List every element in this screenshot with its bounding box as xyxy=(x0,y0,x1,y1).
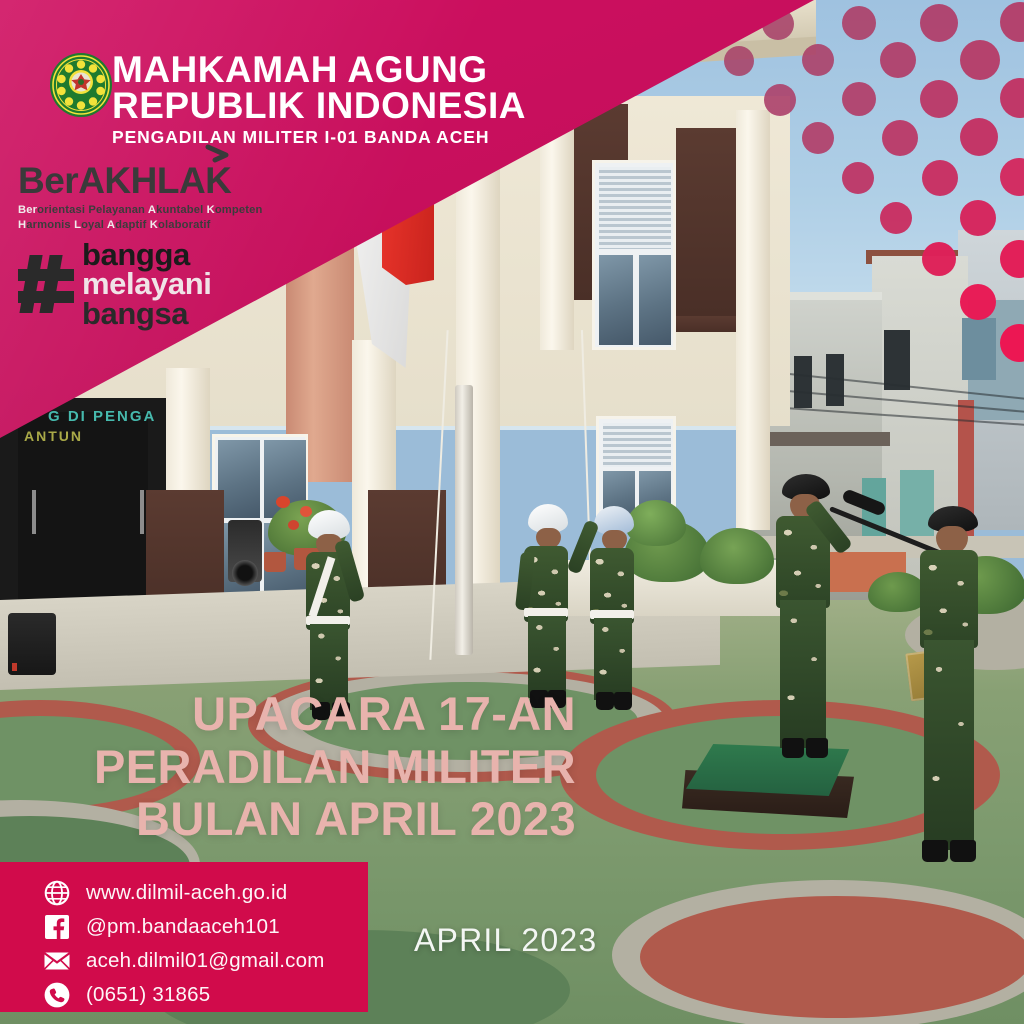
bangga-word-2: melayani xyxy=(82,269,212,298)
institution-line-3: PENGADILAN MILITER I-01 BANDA ACEH xyxy=(112,127,526,148)
institution-line-2: REPUBLIK INDONESIA xyxy=(112,88,526,124)
facebook-text: @pm.bandaaceh101 xyxy=(86,915,280,939)
building-sign-line2: ANTUN xyxy=(24,428,83,444)
upper-window xyxy=(592,160,676,350)
bangga-word-1: bangga xyxy=(82,240,212,269)
berakhlak-arrow-icon xyxy=(203,144,233,174)
website-text: www.dilmil-aceh.go.id xyxy=(86,881,287,905)
email-text: aceh.dilmil01@gmail.com xyxy=(86,949,324,973)
building-sign-line1: G DI PENGA xyxy=(48,408,156,425)
flag-pole xyxy=(455,385,473,655)
contact-row-phone[interactable]: (0651) 31865 xyxy=(44,979,368,1011)
date-stamp: APRIL 2023 xyxy=(414,922,597,959)
bush xyxy=(868,572,928,612)
poster-title: UPACARA 17-AN PERADILAN MILITER BULAN AP… xyxy=(0,688,600,846)
facebook-icon xyxy=(44,914,70,940)
mahkamah-agung-seal-icon xyxy=(48,52,114,118)
hashtag-icon xyxy=(18,253,76,315)
contact-row-website[interactable]: www.dilmil-aceh.go.id xyxy=(44,877,368,909)
title-line-2: PERADILAN MILITER xyxy=(0,741,576,794)
door-handle xyxy=(140,490,144,534)
contact-row-facebook[interactable]: @pm.bandaaceh101 xyxy=(44,911,368,943)
phone-text: (0651) 31865 xyxy=(86,983,210,1007)
flower-pot xyxy=(264,552,286,572)
globe-icon xyxy=(44,880,70,906)
phone-icon xyxy=(44,982,70,1008)
speaker-cone xyxy=(232,560,258,586)
berakhlak-tagline: Berorientasi Pelayanan Akuntabel Kompete… xyxy=(18,203,263,233)
flower xyxy=(276,496,290,508)
berakhlak-tagline-line-1: Berorientasi Pelayanan Akuntabel Kompete… xyxy=(18,203,263,218)
flower xyxy=(300,506,312,517)
floor-speaker xyxy=(8,613,56,675)
contact-row-email[interactable]: aceh.dilmil01@gmail.com xyxy=(44,945,368,977)
flower xyxy=(288,520,299,530)
bangga-word-3: bangsa xyxy=(82,299,212,328)
institution-line-1: MAHKAMAH AGUNG xyxy=(112,52,526,88)
neighbor-door xyxy=(900,470,934,542)
title-line-1: UPACARA 17-AN xyxy=(0,688,576,741)
ground-ring xyxy=(640,896,1024,1018)
bangga-wordmark: bangga melayani bangsa xyxy=(82,240,212,328)
contact-panel: www.dilmil-aceh.go.id @pm.bandaaceh101 a… xyxy=(0,862,368,1012)
ceremony-podium-top xyxy=(686,744,856,796)
institution-header: MAHKAMAH AGUNG REPUBLIK INDONESIA PENGAD… xyxy=(112,52,526,148)
poster-canvas: G DI PENGA ANTUN xyxy=(0,0,1024,1024)
berakhlak-tagline-line-2: Harmonis Loyal Adaptif Kolaboratif xyxy=(18,218,263,233)
bush xyxy=(626,500,686,546)
door-handle xyxy=(32,490,36,534)
berakhlak-logo: BerAKHLAK Berorientasi Pelayanan Akuntab… xyxy=(18,162,263,233)
title-line-3: BULAN APRIL 2023 xyxy=(0,793,576,846)
polka-dot-pattern xyxy=(694,0,1024,380)
bangga-melayani-bangsa-logo: bangga melayani bangsa xyxy=(18,240,212,328)
email-icon xyxy=(44,948,70,974)
